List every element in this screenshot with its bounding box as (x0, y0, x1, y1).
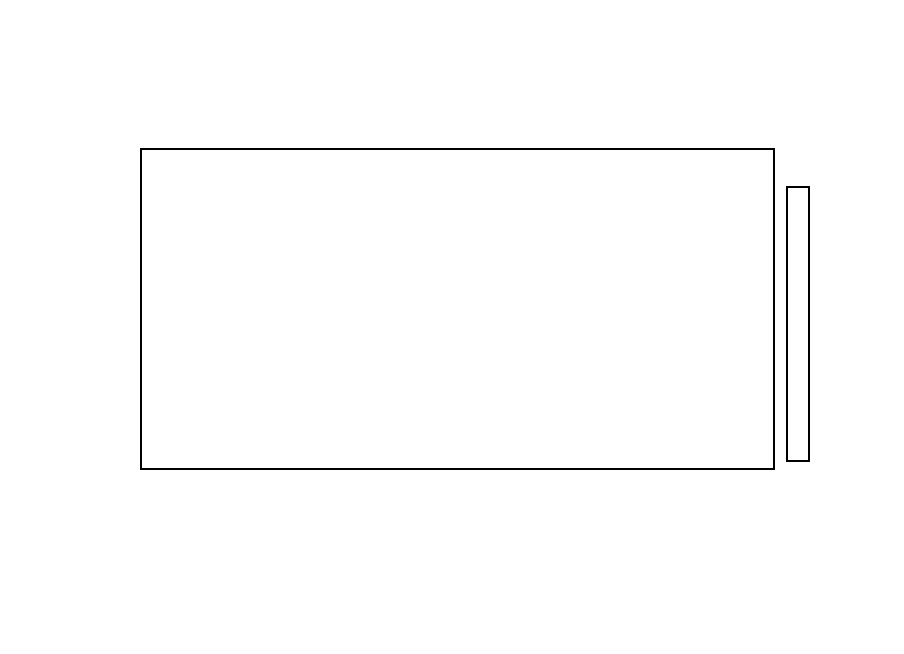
contour-plot-area (140, 148, 775, 470)
colorbar (786, 186, 810, 462)
vertical-velocity-heatmap (142, 150, 773, 468)
